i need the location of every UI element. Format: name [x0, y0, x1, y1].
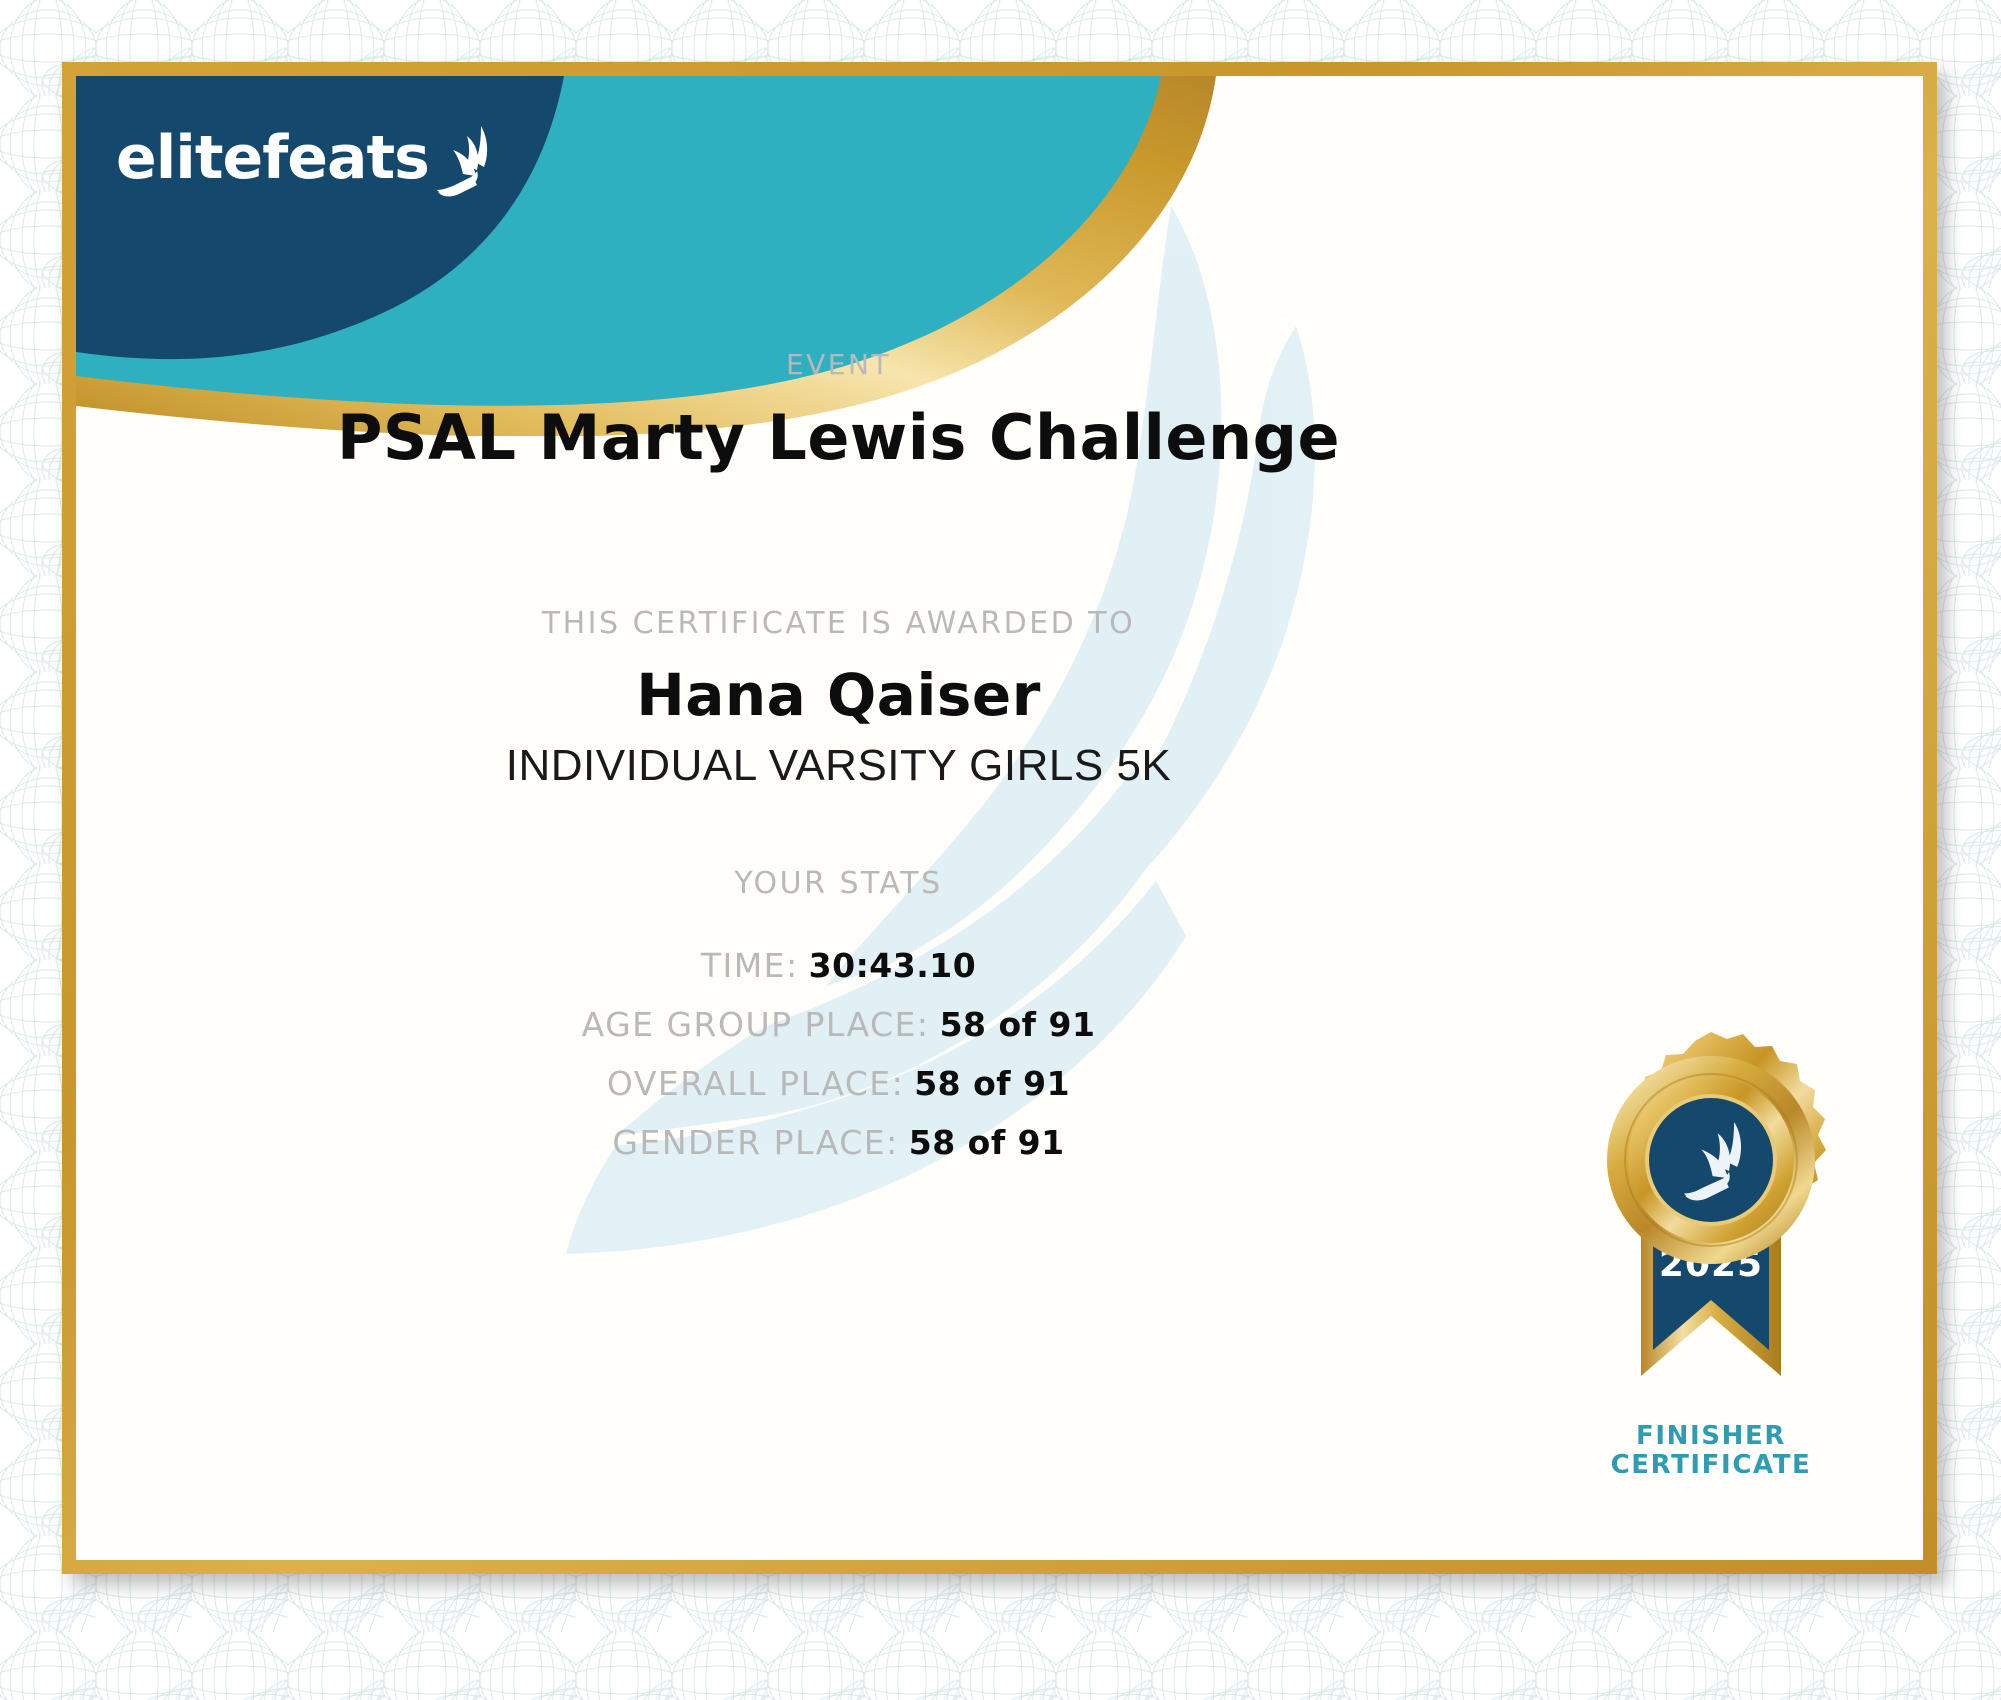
stat-value: 30:43.10 — [809, 946, 977, 985]
stat-label: TIME: — [701, 946, 799, 985]
certificate-body: elitefeats EVENT PSAL Marty Lewis Challe… — [76, 76, 1923, 1560]
stats-list: TIME:30:43.10AGE GROUP PLACE:58 of 91OVE… — [76, 946, 1601, 1182]
event-label: EVENT — [76, 348, 1601, 381]
your-stats-label: YOUR STATS — [76, 866, 1601, 901]
stat-row: TIME:30:43.10 — [76, 946, 1601, 985]
badge-caption: FINISHER CERTIFICATE — [1561, 1422, 1861, 1480]
stat-label: AGE GROUP PLACE: — [582, 1005, 930, 1044]
awarded-to-label: THIS CERTIFICATE IS AWARDED TO — [76, 606, 1601, 641]
finisher-badge: 2025 — [1561, 1028, 1861, 1480]
event-name: PSAL Marty Lewis Challenge — [76, 401, 1601, 474]
stat-value: 58 of 91 — [914, 1064, 1070, 1103]
stat-value: 58 of 91 — [909, 1123, 1065, 1162]
stat-row: AGE GROUP PLACE:58 of 91 — [76, 1005, 1601, 1044]
logo-wordmark: elitefeats — [116, 128, 429, 188]
winged-foot-icon — [433, 124, 503, 198]
certificate-page: elitefeats EVENT PSAL Marty Lewis Challe… — [0, 0, 2001, 1700]
stat-label: GENDER PLACE: — [612, 1123, 898, 1162]
stat-label: OVERALL PLACE: — [607, 1064, 904, 1103]
elitefeats-logo: elitefeats — [116, 124, 503, 188]
division-name: INDIVIDUAL VARSITY GIRLS 5K — [76, 741, 1601, 791]
recipient-name: Hana Qaiser — [76, 661, 1601, 729]
stat-row: GENDER PLACE:58 of 91 — [76, 1123, 1601, 1162]
certificate-gold-frame: elitefeats EVENT PSAL Marty Lewis Challe… — [62, 62, 1937, 1574]
stat-row: OVERALL PLACE:58 of 91 — [76, 1064, 1601, 1103]
medal-ribbon-graphic: 2025 — [1561, 1028, 1861, 1418]
stat-value: 58 of 91 — [940, 1005, 1096, 1044]
badge-caption-line2: CERTIFICATE — [1561, 1451, 1861, 1480]
badge-caption-line1: FINISHER — [1561, 1422, 1861, 1451]
